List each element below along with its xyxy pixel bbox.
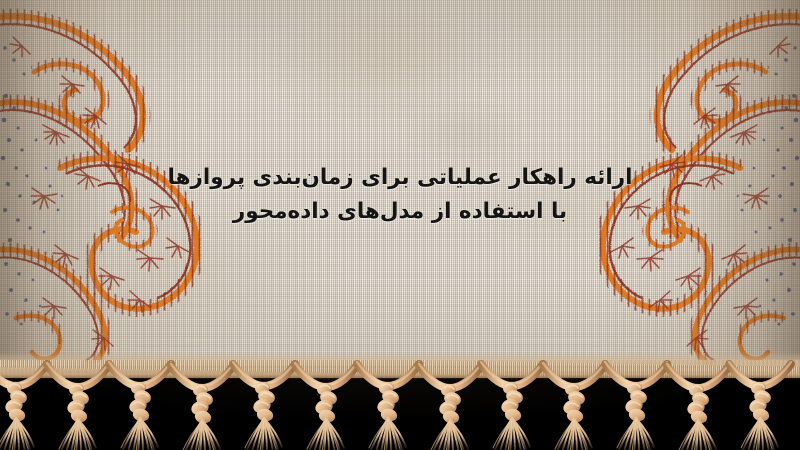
slide-title: ارائه راهکار عملیاتی برای زمان‌بندی پروا…	[0, 163, 800, 227]
tassel-row	[0, 362, 791, 450]
tassel-fringe	[0, 352, 800, 450]
slide-canvas: ارائه راهکار عملیاتی برای زمان‌بندی پروا…	[0, 0, 800, 450]
title-line-1: ارائه راهکار عملیاتی برای زمان‌بندی پروا…	[0, 163, 800, 194]
title-line-2: با استفاده از مدل‌های داده‌محور	[0, 197, 800, 228]
